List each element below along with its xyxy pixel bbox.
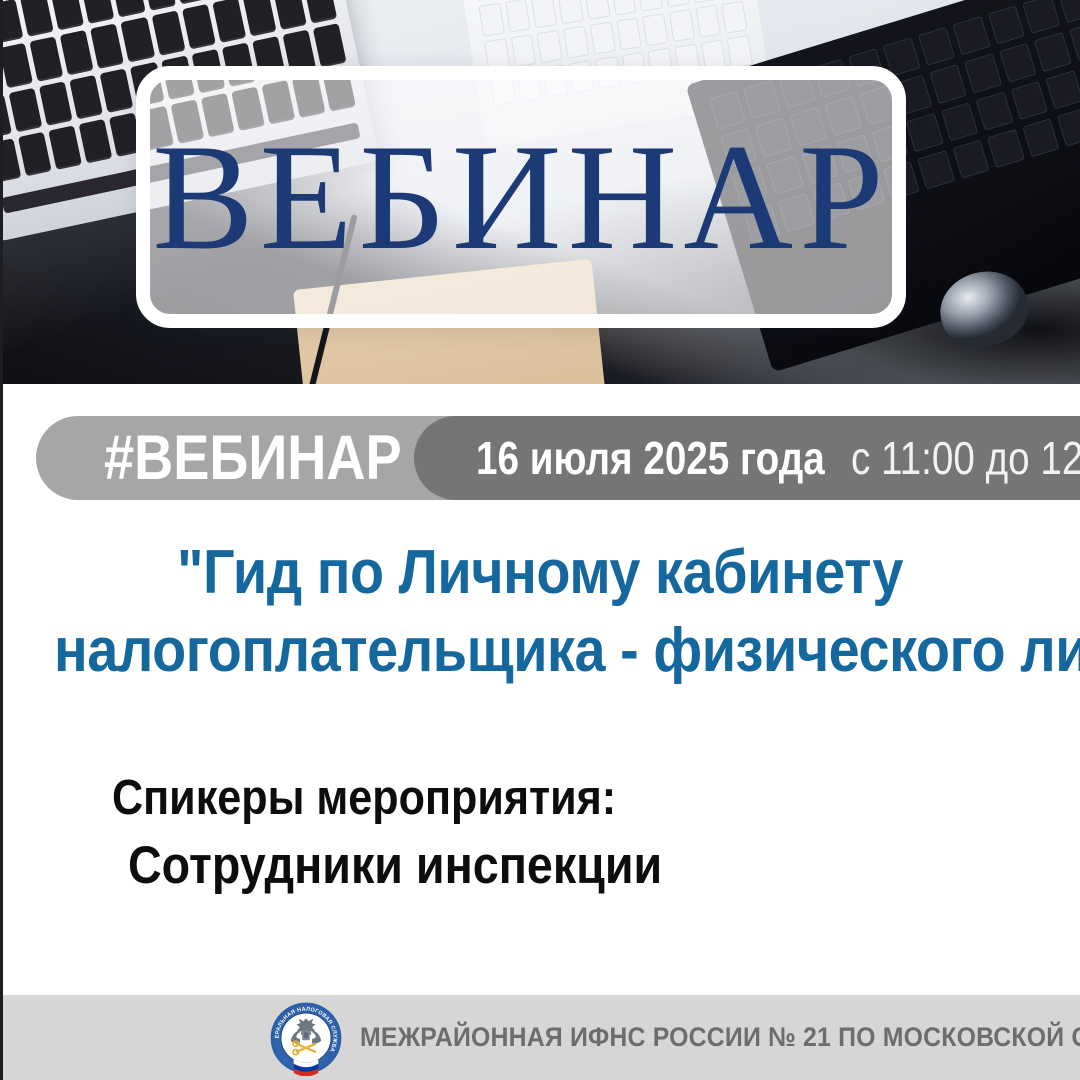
hero-title-card: ВЕБИНАР — [136, 66, 906, 328]
webinar-poster: ВЕБИНАР #ВЕБИНАР 16 июля 2025 года с 11:… — [0, 0, 1080, 1080]
hero-webinar-word: ВЕБИНАР — [152, 121, 889, 273]
footer-organization-label: МЕЖРАЙОННАЯ ИФНС РОССИИ № 21 ПО МОСКОВСК… — [360, 1022, 1080, 1053]
speakers-block: Спикеры мероприятия: Сотрудники инспекци… — [112, 766, 932, 901]
event-banner: #ВЕБИНАР 16 июля 2025 года с 11:00 до 12… — [0, 416, 1080, 500]
fns-emblem-icon: ФЕДЕРАЛЬНАЯ НАЛОГОВАЯ СЛУЖБА — [268, 1000, 344, 1076]
hashtag-label: #ВЕБИНАР — [104, 427, 402, 490]
footer-bar: ФЕДЕРАЛЬНАЯ НАЛОГОВАЯ СЛУЖБА — [0, 995, 1080, 1080]
left-edge-rule — [0, 0, 3, 1080]
webinar-title-line-1: "Гид по Личному кабинету — [54, 534, 1026, 612]
webinar-title: "Гид по Личному кабинету налогоплательщи… — [0, 534, 1080, 690]
hero-photo-section: ВЕБИНАР — [0, 0, 1080, 384]
datetime-pill: 16 июля 2025 года с 11:00 до 12:00 — [414, 416, 1080, 500]
webinar-title-line-2: налогоплательщика - физического лица" — [54, 612, 1026, 690]
speakers-value: Сотрудники инспекции — [128, 831, 836, 901]
speakers-label: Спикеры мероприятия: — [112, 766, 834, 831]
event-date-label: 16 июля 2025 года — [476, 435, 825, 481]
event-time-label: с 11:00 до 12:00 — [851, 435, 1080, 481]
